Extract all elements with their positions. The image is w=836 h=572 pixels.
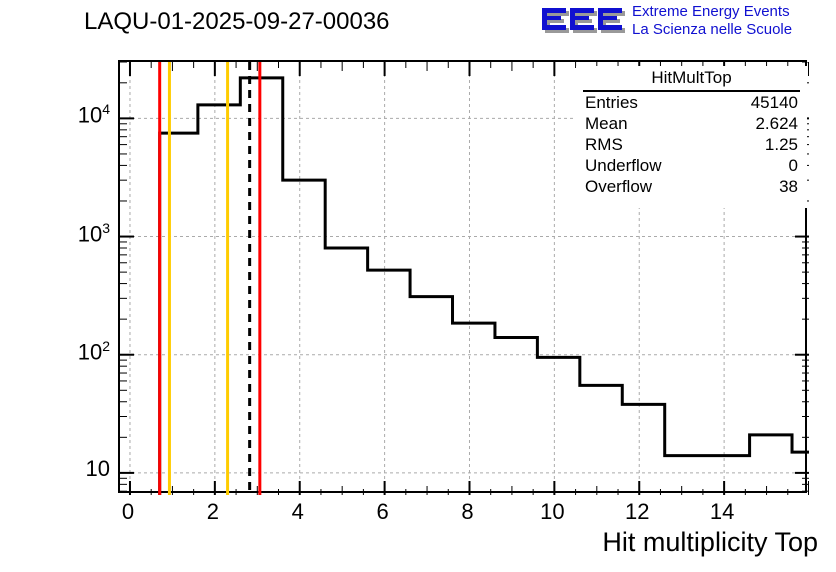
eee-logo: Extreme Energy Events La Scienza nelle S… <box>540 2 836 42</box>
stats-row-label: Entries <box>585 92 638 113</box>
x-tick-label: 10 <box>532 499 572 525</box>
page-title: LAQU-01-2025-09-27-00036 <box>84 8 390 36</box>
stats-row: Mean2.624 <box>577 113 806 134</box>
stats-title: HitMultTop <box>583 67 800 92</box>
stats-row-label: Overflow <box>585 176 652 197</box>
eee-logo-mark <box>540 4 628 38</box>
stats-row: Overflow38 <box>577 176 806 197</box>
eee-logo-line1: Extreme Energy Events <box>632 3 792 21</box>
stats-row-value: 1.25 <box>765 134 798 155</box>
stats-row-label: RMS <box>585 134 623 155</box>
eee-logo-text: Extreme Energy Events La Scienza nelle S… <box>632 3 792 39</box>
eee-logo-line2: La Scienza nelle Scuole <box>632 21 792 39</box>
x-tick-label: 2 <box>193 499 233 525</box>
stats-row-label: Underflow <box>585 155 662 176</box>
stats-row-label: Mean <box>585 113 628 134</box>
stats-row-value: 2.624 <box>755 113 798 134</box>
y-tick-label: 102 <box>78 338 110 365</box>
stats-row-value: 0 <box>789 155 798 176</box>
x-axis-title: Hit multiplicity Top <box>602 527 818 558</box>
y-tick-label: 103 <box>78 220 110 247</box>
stats-row: Underflow0 <box>577 155 806 176</box>
stats-row: RMS1.25 <box>577 134 806 155</box>
x-tick-label: 4 <box>278 499 318 525</box>
stats-row-value: 38 <box>779 176 798 197</box>
x-tick-label: 14 <box>702 499 742 525</box>
x-tick-label: 12 <box>617 499 657 525</box>
stats-row-value: 45140 <box>751 92 798 113</box>
stats-row: Entries45140 <box>577 92 806 113</box>
stats-rows: Entries45140Mean2.624RMS1.25Underflow0Ov… <box>577 92 806 197</box>
stats-box: HitMultTop Entries45140Mean2.624RMS1.25U… <box>576 66 807 208</box>
x-tick-label: 6 <box>363 499 403 525</box>
x-tick-label: 0 <box>108 499 148 525</box>
y-tick-label: 10 <box>86 456 110 482</box>
y-tick-label: 104 <box>78 101 110 128</box>
root-canvas: LAQU-01-2025-09-27-00036 <box>0 0 836 572</box>
x-tick-label: 8 <box>447 499 487 525</box>
